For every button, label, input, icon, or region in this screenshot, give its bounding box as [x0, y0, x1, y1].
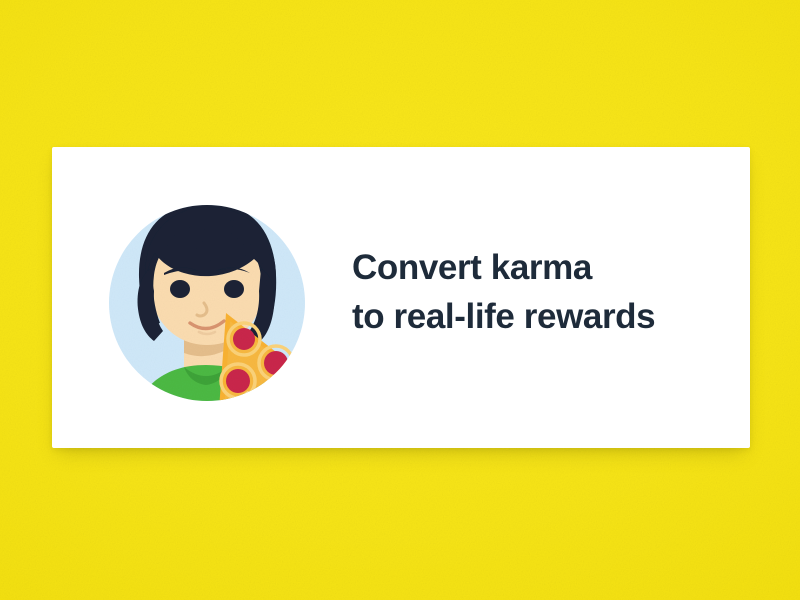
- headline-line-1: Convert karma: [352, 243, 655, 292]
- pepperoni: [264, 351, 288, 375]
- thumb: [240, 391, 256, 413]
- page-title: Convert karma to real-life rewards: [352, 243, 655, 341]
- eye-left: [170, 280, 190, 298]
- avatar-illustration: [98, 195, 328, 448]
- pepperoni-ring: [258, 385, 290, 417]
- pepperoni: [263, 390, 285, 412]
- finger: [250, 404, 276, 408]
- promo-card[interactable]: Convert karma to real-life rewards: [52, 147, 750, 448]
- finger: [253, 394, 275, 399]
- finger: [250, 414, 275, 418]
- pepperoni: [226, 369, 250, 393]
- hand-palm: [244, 390, 286, 428]
- eye-right: [224, 280, 244, 298]
- headline-line-2: to real-life rewards: [352, 292, 655, 341]
- hand: [240, 390, 286, 428]
- pepperoni: [233, 328, 255, 350]
- screenshot-stage: Convert karma to real-life rewards: [0, 0, 800, 600]
